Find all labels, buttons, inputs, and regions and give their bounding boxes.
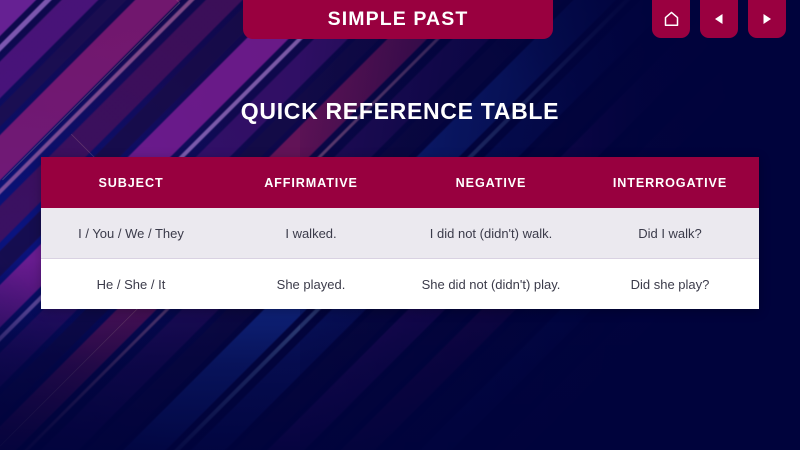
cell-interrogative: Did she play?	[581, 259, 759, 310]
triangle-right-icon	[760, 12, 774, 26]
quick-reference-table: SUBJECT AFFIRMATIVE NEGATIVE INTERROGATI…	[41, 157, 759, 309]
slide-root: SIMPLE PAST QUICK REFE	[0, 0, 800, 450]
column-header-negative: NEGATIVE	[401, 157, 581, 208]
slide-title: SIMPLE PAST	[328, 8, 469, 31]
cell-negative: I did not (didn't) walk.	[401, 208, 581, 259]
cell-affirmative: I walked.	[221, 208, 401, 259]
cell-affirmative: She played.	[221, 259, 401, 310]
column-header-interrogative: INTERROGATIVE	[581, 157, 759, 208]
table-row: I / You / We / They I walked. I did not …	[41, 208, 759, 259]
cell-subject: He / She / It	[41, 259, 221, 310]
triangle-left-icon	[712, 12, 726, 26]
table-row: He / She / It She played. She did not (d…	[41, 259, 759, 310]
home-button[interactable]	[652, 0, 690, 38]
cell-interrogative: Did I walk?	[581, 208, 759, 259]
table-header-row: SUBJECT AFFIRMATIVE NEGATIVE INTERROGATI…	[41, 157, 759, 208]
navigation-bar	[652, 0, 786, 38]
next-button[interactable]	[748, 0, 786, 38]
column-header-affirmative: AFFIRMATIVE	[221, 157, 401, 208]
prev-button[interactable]	[700, 0, 738, 38]
cell-subject: I / You / We / They	[41, 208, 221, 259]
slide-title-banner: SIMPLE PAST	[243, 0, 553, 39]
home-icon	[663, 11, 680, 27]
column-header-subject: SUBJECT	[41, 157, 221, 208]
cell-negative: She did not (didn't) play.	[401, 259, 581, 310]
page-title: QUICK REFERENCE TABLE	[0, 98, 800, 125]
